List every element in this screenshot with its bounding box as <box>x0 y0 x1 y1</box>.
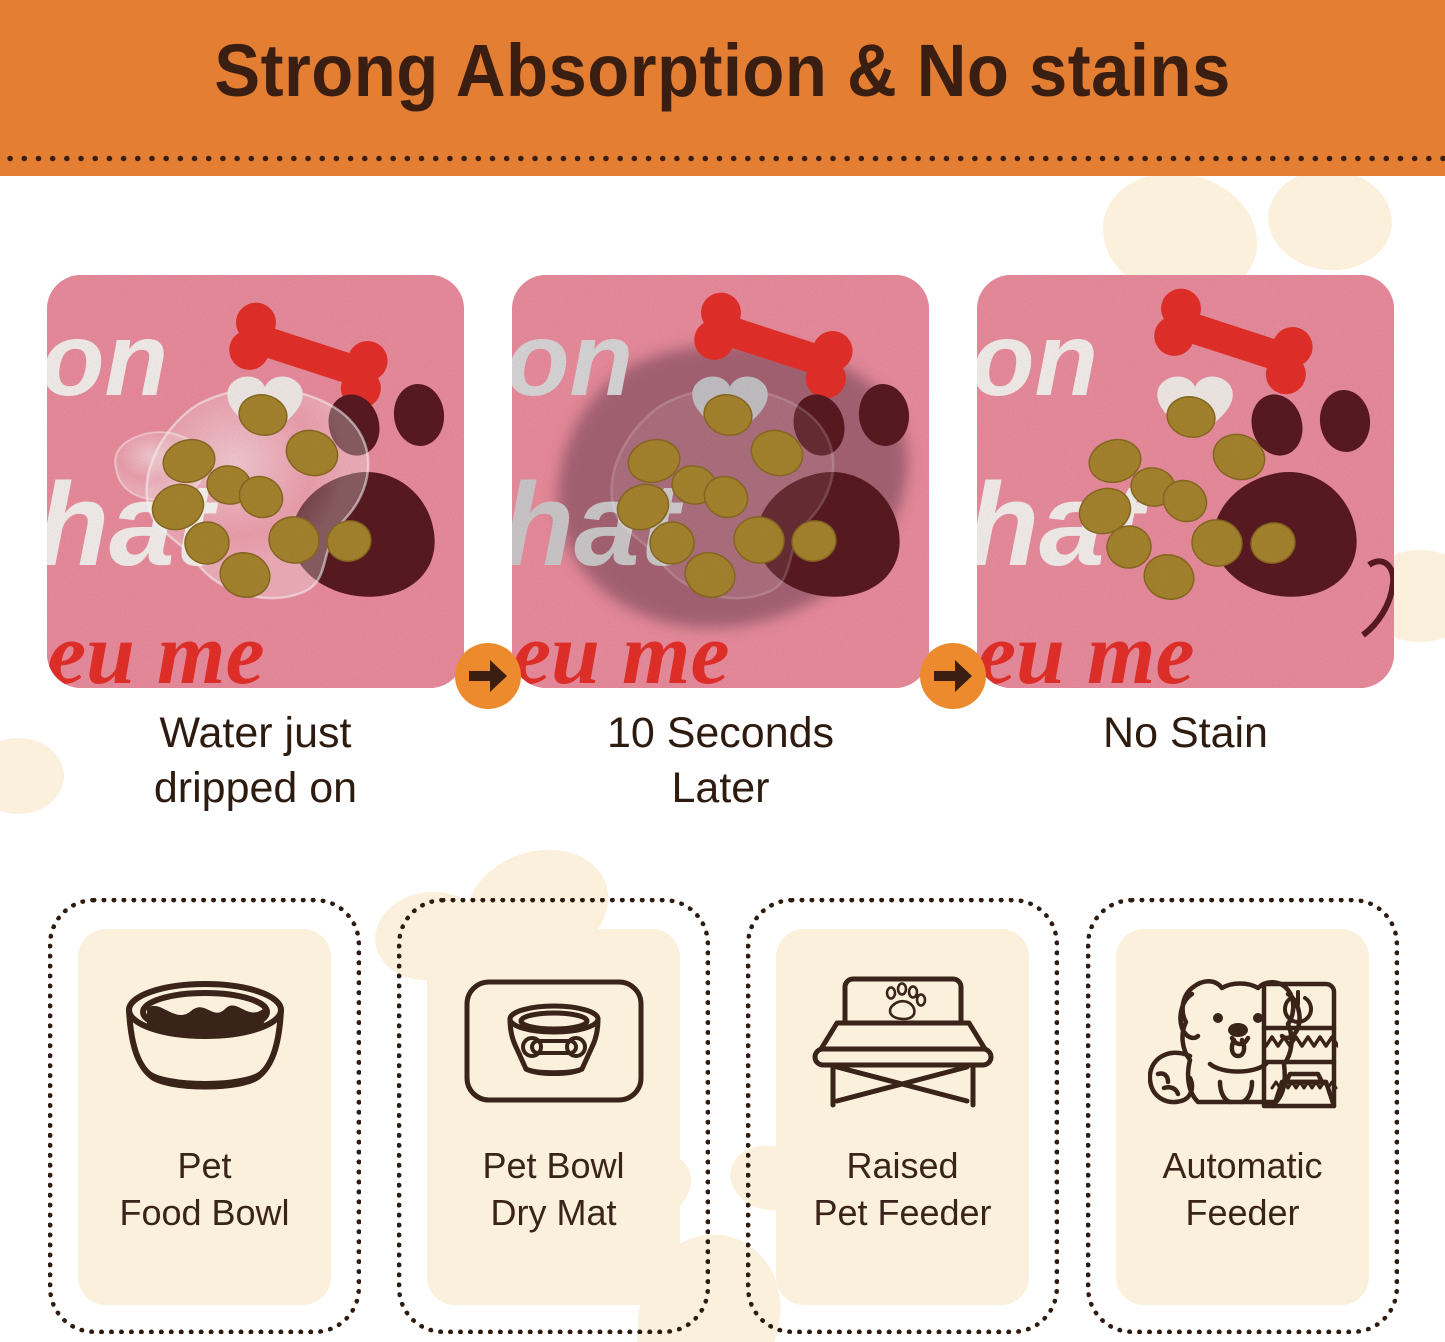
use-case-label-4: Automatic Feeder <box>1116 1143 1369 1237</box>
mat-dry-no-stain: on hat eu me <box>977 275 1394 688</box>
use-case-cards-row: Pet Food Bowl P <box>0 890 1445 1342</box>
pet-bowl-dry-mat-icon <box>459 961 649 1121</box>
use-case-label-1-line1: Pet <box>177 1145 231 1186</box>
right-arrow-icon <box>467 658 509 694</box>
use-case-label-3: Raised Pet Feeder <box>776 1143 1029 1237</box>
demo-photo-1: on hat eu me <box>47 275 464 688</box>
demo-photo-3: on hat eu me <box>977 275 1394 688</box>
use-case-label-1: Pet Food Bowl <box>78 1143 331 1237</box>
use-case-label-2-line1: Pet Bowl <box>482 1145 624 1186</box>
arrow-step-2-to-3 <box>920 643 986 709</box>
use-case-label-3-line2: Pet Feeder <box>813 1192 991 1233</box>
use-case-label-3-line1: Raised <box>846 1145 958 1186</box>
demo-caption-3-line1: No Stain <box>977 706 1394 761</box>
right-arrow-icon <box>932 658 974 694</box>
mat-with-water-droplets: on hat eu me <box>47 275 464 688</box>
use-case-label-2: Pet Bowl Dry Mat <box>427 1143 680 1237</box>
use-case-label-2-line2: Dry Mat <box>491 1192 617 1233</box>
demo-caption-1-line2: dripped on <box>47 761 464 816</box>
card-inner-2: Pet Bowl Dry Mat <box>427 929 680 1305</box>
demo-caption-3: No Stain <box>977 706 1394 761</box>
demo-caption-2: 10 Seconds Later <box>512 706 929 816</box>
demo-photo-2: on hat eu me <box>512 275 929 688</box>
feeder-machine <box>1264 984 1338 1106</box>
demo-caption-2-line2: Later <box>512 761 929 816</box>
demo-caption-2-line1: 10 Seconds <box>512 706 929 761</box>
card-inner-4: Automatic Feeder <box>1116 929 1369 1305</box>
use-case-card-pet-food-bowl[interactable]: Pet Food Bowl <box>48 898 361 1334</box>
use-case-label-4-line1: Automatic <box>1162 1145 1322 1186</box>
pet-food-bowl-icon <box>110 961 300 1121</box>
header-dotted-divider <box>0 153 1445 164</box>
mat-absorbing-water: on hat eu me <box>512 275 929 688</box>
use-case-card-automatic-feeder[interactable]: Automatic Feeder <box>1086 898 1399 1334</box>
absorption-demo-row: on hat eu me <box>0 176 1445 816</box>
page-title: Strong Absorption & No stains <box>214 34 1230 108</box>
use-case-label-4-line2: Feeder <box>1185 1192 1299 1233</box>
demo-caption-1-line1: Water just <box>47 706 464 761</box>
paw-print-detail <box>887 984 925 1020</box>
header-banner: Strong Absorption & No stains <box>0 0 1445 176</box>
automatic-feeder-icon <box>1148 961 1338 1121</box>
card-inner-1: Pet Food Bowl <box>78 929 331 1305</box>
demo-caption-1: Water just dripped on <box>47 706 464 816</box>
use-case-label-1-line2: Food Bowl <box>119 1192 289 1233</box>
card-inner-3: Raised Pet Feeder <box>776 929 1029 1305</box>
use-case-card-pet-bowl-dry-mat[interactable]: Pet Bowl Dry Mat <box>397 898 710 1334</box>
raised-pet-feeder-icon <box>808 961 998 1121</box>
arrow-step-1-to-2 <box>455 643 521 709</box>
use-case-card-raised-pet-feeder[interactable]: Raised Pet Feeder <box>746 898 1059 1334</box>
